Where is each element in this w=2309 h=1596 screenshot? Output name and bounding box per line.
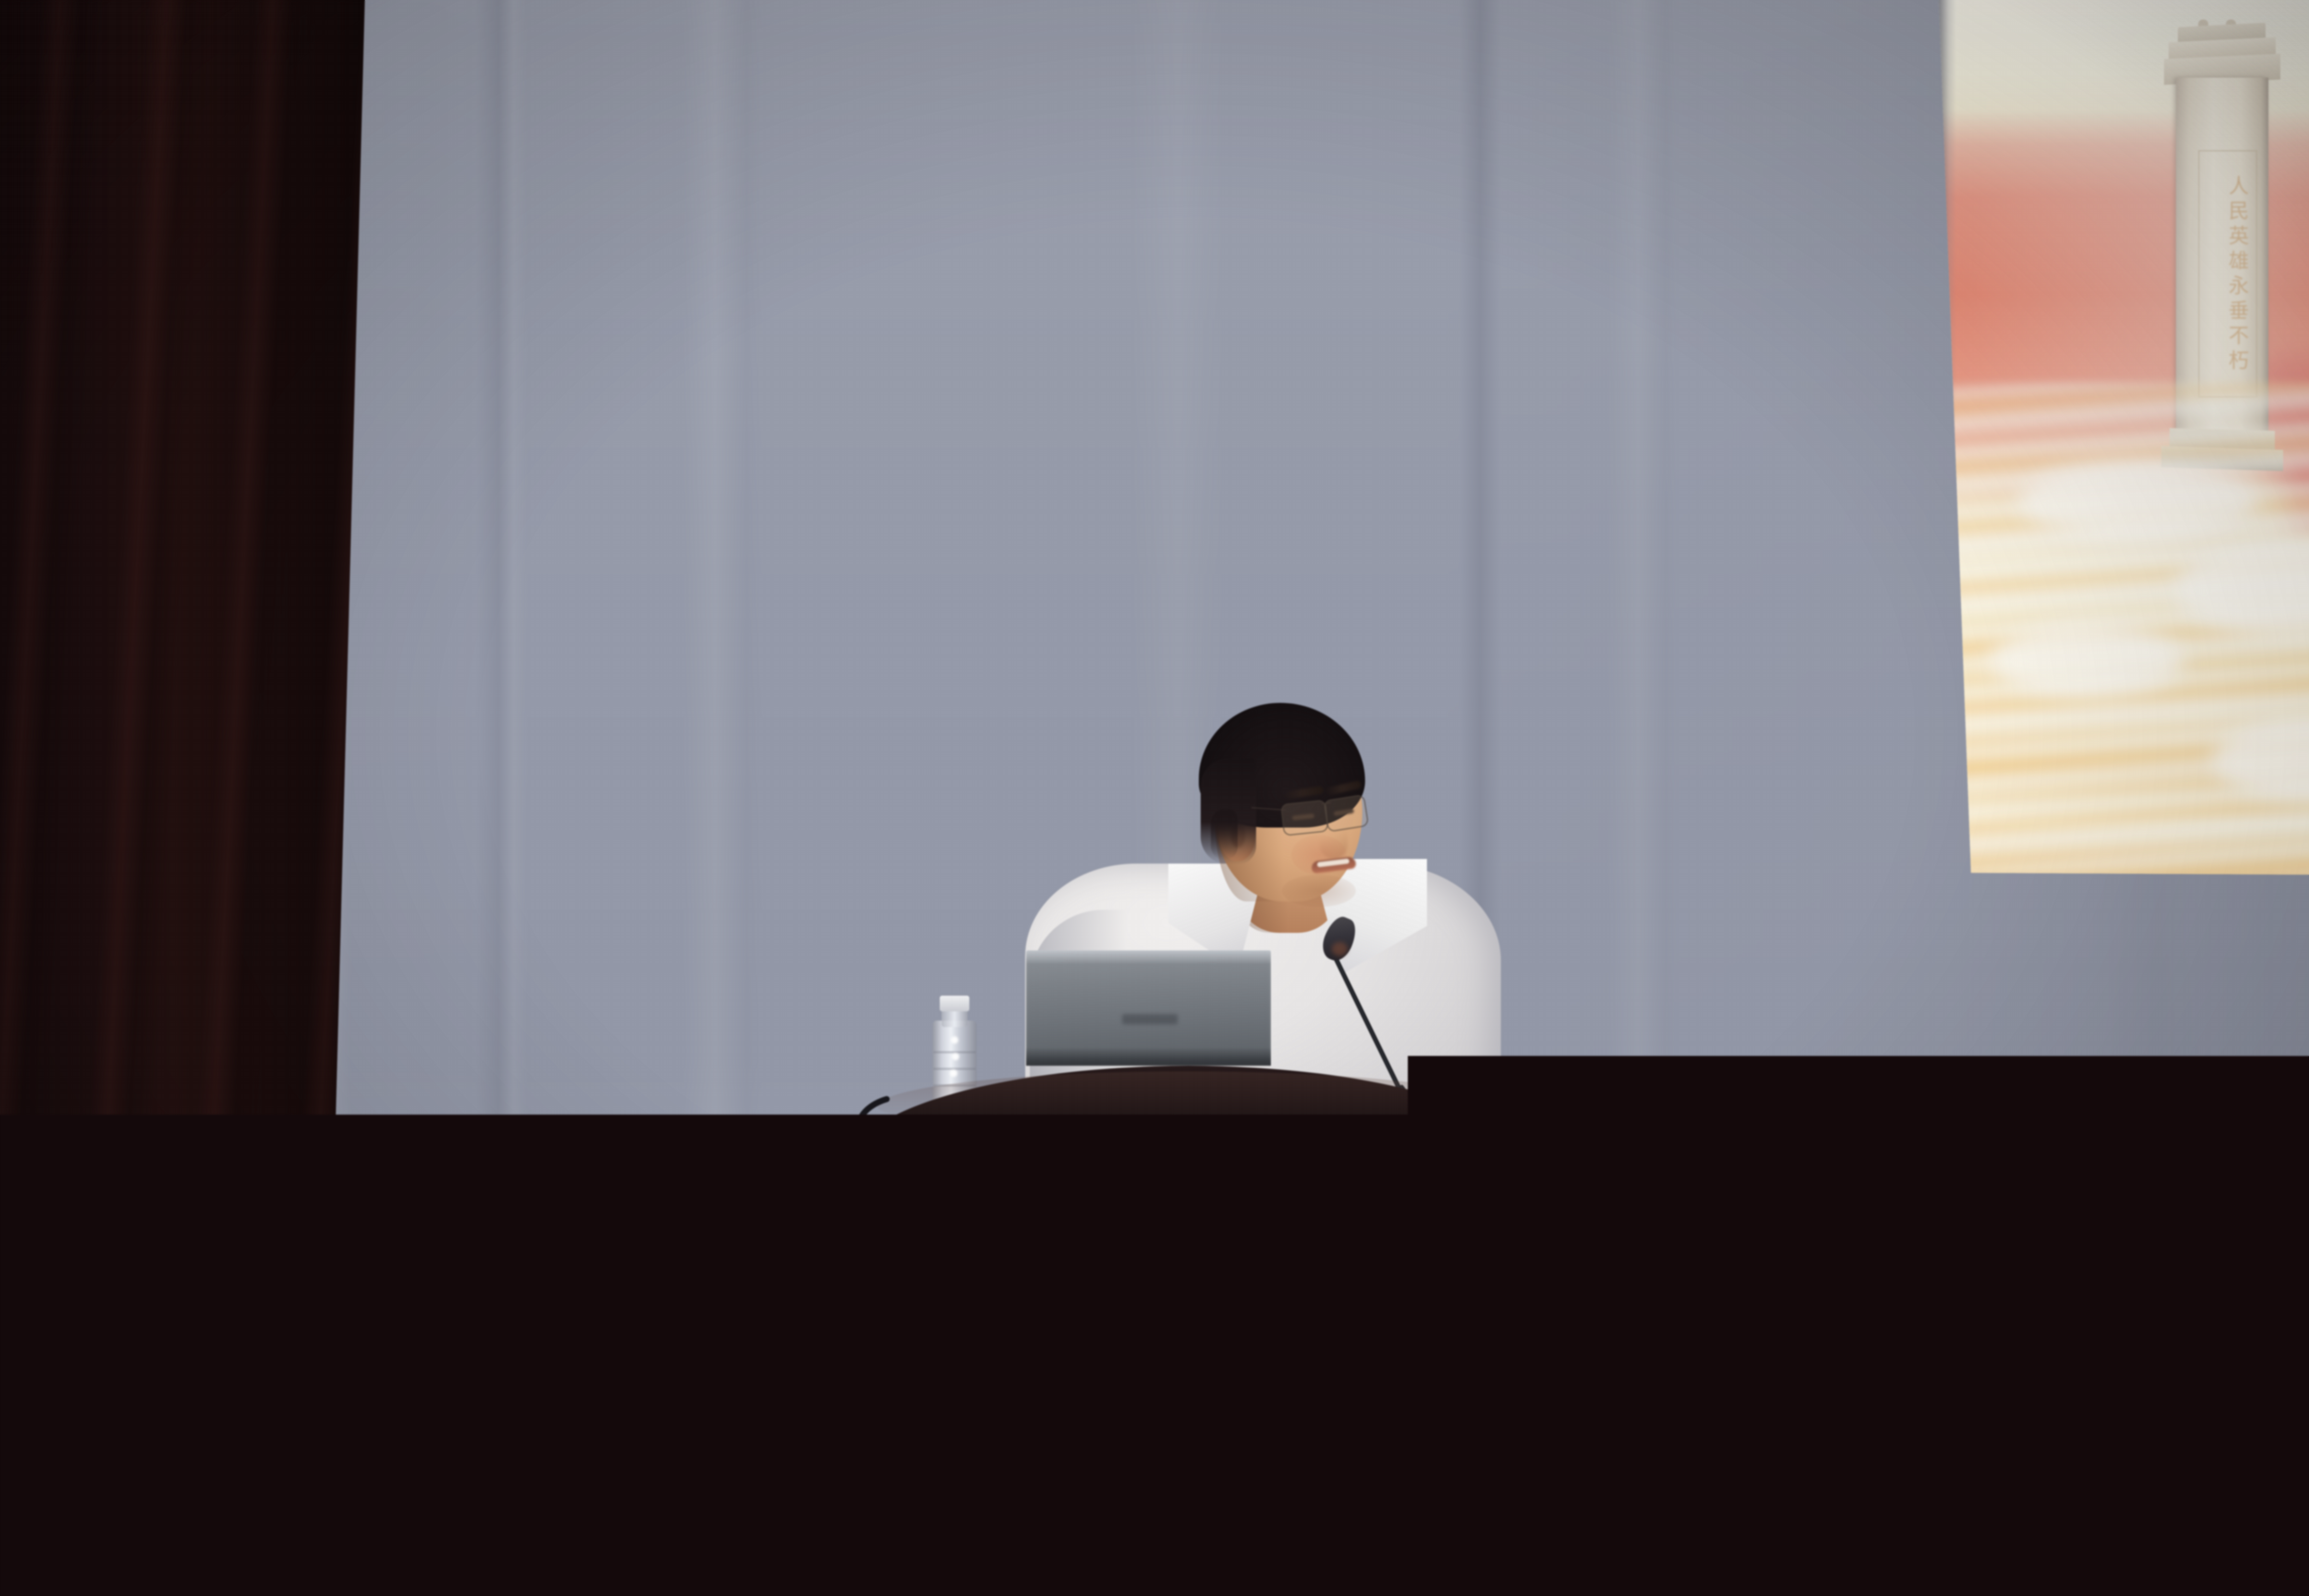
speaker-sideburn xyxy=(1211,809,1238,860)
bottle-highlight xyxy=(951,1036,958,1044)
bottle-cap xyxy=(940,996,969,1011)
lectern-column-band xyxy=(1009,1384,1365,1391)
laptop-lid-highlight xyxy=(1026,950,1271,964)
bottle-highlight xyxy=(952,1053,959,1060)
speaker-head xyxy=(1187,703,1372,906)
stage-floor xyxy=(0,1527,2309,1596)
projector-glow xyxy=(1935,0,2309,875)
photo-scene: 人民英雄永垂不朽 xyxy=(0,0,2309,1596)
laptop-logo xyxy=(1122,1014,1178,1024)
projected-slide: 人民英雄永垂不朽 xyxy=(1935,0,2309,875)
laptop-hinge-shadow xyxy=(1026,1047,1271,1066)
microphone-head-highlight xyxy=(1332,942,1348,956)
cable-left xyxy=(817,1094,1011,1596)
bottle-highlight xyxy=(950,1070,957,1077)
chin-shadow xyxy=(1282,875,1356,907)
